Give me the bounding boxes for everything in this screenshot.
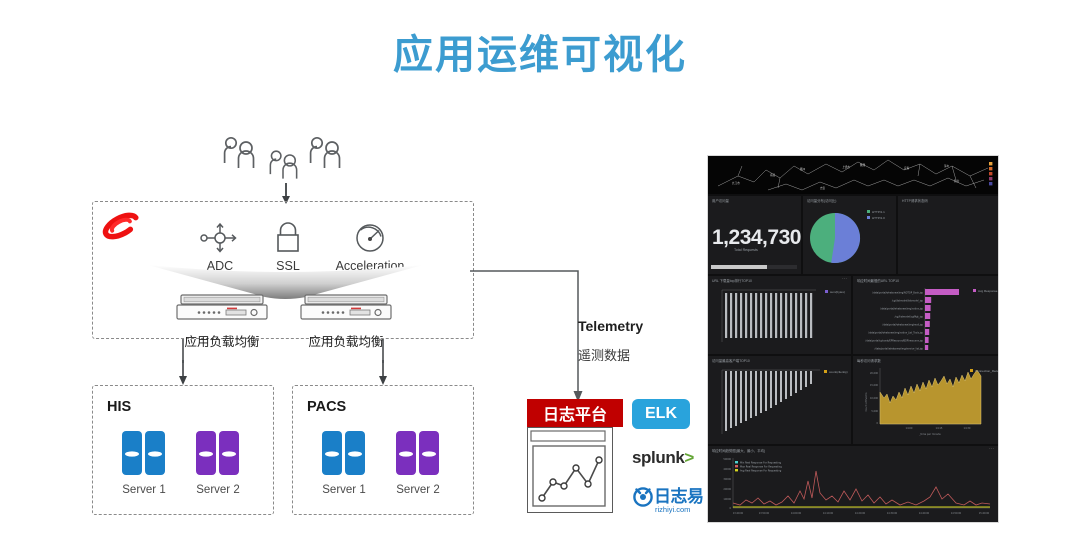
pacs-server-1: Server 1	[313, 431, 375, 496]
pie-legend-swatch-1	[867, 216, 870, 219]
svg-text:萍乡: 萍乡	[944, 164, 950, 168]
svg-text:上饶市: 上饶市	[842, 165, 850, 169]
rizhiyi-logo-label: 日志易	[654, 487, 704, 506]
svg-text:10000: 10000	[723, 498, 731, 501]
user-group-icon	[222, 136, 266, 170]
vcolumn-legend-swatch	[824, 370, 827, 373]
empty-panel[interactable]: HTTP请求状态码	[898, 196, 998, 274]
splunk-chevron-icon: >	[684, 448, 694, 467]
svg-text:/data/portal/whatsnew/img/serv: /data/portal/whatsnew/img/service_list.j…	[875, 348, 924, 351]
server-pair-icon	[318, 431, 370, 477]
radware-swirl-logo	[99, 208, 143, 244]
svg-text:13:50:00: 13:50:00	[759, 512, 770, 515]
pacs-server-2: Server 2	[387, 431, 449, 496]
svg-text:20000: 20000	[723, 488, 731, 491]
arrow-to-his-icon	[175, 360, 191, 386]
splunk-logo-label: splunk	[632, 448, 684, 467]
panel-menu-icon[interactable]: ···	[842, 276, 847, 282]
svg-text:15,000: 15,000	[870, 384, 879, 387]
his-server-2: Server 2	[187, 431, 249, 496]
geo-map-panel[interactable]: 九江市南昌 赣州吉安 上饶市鹰潭 宜春萍乡 新余	[708, 156, 998, 194]
hbar-panel[interactable]: 响应时间最慢的URL TOP10 /data/portal/whatsnew/i…	[853, 276, 998, 354]
panel-title: 响应时间最慢的URL TOP10	[857, 278, 899, 283]
server-label: Server 2	[187, 484, 249, 496]
connector-telemetry	[468, 269, 608, 409]
connector-edge-to-backends	[92, 339, 474, 387]
his-group-title: HIS	[107, 399, 131, 415]
pie-panel[interactable]: 访问量分布(访问比) HTTP/1.1 HTTP/1.0	[803, 196, 896, 274]
area-legend-label: Connection_Received	[975, 369, 999, 373]
total-requests-panel[interactable]: 用户访问量 1,234,730 Total Requests	[708, 196, 801, 274]
svg-text:20,000: 20,000	[870, 372, 879, 375]
server-pair-icon	[192, 431, 244, 477]
vcolumn-panel[interactable]: 访问量最高客户端TOP10 count(clientip)	[708, 356, 851, 444]
svg-text:/data/portal/whatsnew/img/noti: /data/portal/whatsnew/img/notice_List_To…	[868, 332, 923, 335]
panel-menu-icon[interactable]: ···	[989, 446, 994, 452]
ssl-lock-icon	[243, 222, 333, 256]
area-chart: 20,00015,000 10,0005,000 0 14:0014:1514:…	[853, 362, 998, 442]
svg-text:新余: 新余	[954, 179, 960, 183]
column-legend-swatch	[825, 290, 828, 293]
svg-text:吉安: 吉安	[820, 186, 826, 190]
pie-legend-label-1: HTTP/1.0	[872, 216, 885, 220]
elk-badge[interactable]: ELK	[632, 399, 690, 429]
svg-text:_time per minute: _time per minute	[918, 432, 941, 436]
column-legend-label: sum(bytes)	[830, 290, 845, 294]
telemetry-label-cn: 遥测数据	[578, 345, 630, 364]
svg-text:南昌: 南昌	[770, 173, 776, 177]
his-server-1: Server 1	[113, 431, 175, 496]
area-panel[interactable]: 每秒访问请求数 20,00015,000 10,0005,000 0 14:00…	[853, 356, 998, 444]
svg-text:Min Real Response For Requesti: Min Real Response For Requesting	[740, 461, 782, 464]
svg-text:30000: 30000	[723, 478, 731, 481]
server-label: Server 2	[387, 484, 449, 496]
rizhiyi-mark-icon	[632, 485, 654, 507]
svg-text:14:00: 14:00	[906, 427, 913, 430]
total-requests-sub: Total Requests	[734, 248, 758, 252]
svg-text:Avg Real Response For Requesti: Avg Real Response For Requesting	[740, 469, 782, 472]
svg-text:5,000: 5,000	[871, 410, 878, 413]
panel-scrollbar-thumb[interactable]	[711, 265, 767, 269]
panel-title: URL 下载量top排行TOP10	[712, 278, 752, 283]
user-group-icon	[268, 148, 308, 182]
svg-text:0: 0	[729, 507, 731, 510]
svg-text:/data/portal/whatsnew/img/noti: /data/portal/whatsnew/img/notice.jsp	[880, 308, 923, 311]
speedometer-icon	[325, 222, 415, 256]
hbar-legend-swatch	[973, 289, 976, 292]
log-analytics-dashboard[interactable]: 九江市南昌 赣州吉安 上饶市鹰潭 宜春萍乡 新余 用户访问量 1,234,730	[707, 155, 999, 523]
svg-text:/data/portal/whatsnew/img/NOTO: /data/portal/whatsnew/img/NOTOP_Book.jsp	[872, 292, 923, 295]
svg-text:15:40:00: 15:40:00	[979, 512, 990, 515]
svg-text:14:10:00: 14:10:00	[823, 512, 834, 515]
panel-title: 访问量最高客户端TOP10	[712, 358, 750, 363]
telemetry-label-en: Telemetry	[578, 318, 643, 334]
svg-text:14:15: 14:15	[936, 427, 943, 430]
pie-chart	[803, 203, 896, 273]
svg-text:14:00:00: 14:00:00	[791, 512, 802, 515]
svg-text:40000: 40000	[723, 468, 731, 471]
panel-title: HTTP请求状态码	[902, 198, 928, 203]
panel-title: 用户访问量	[712, 198, 729, 203]
arrow-to-pacs-icon	[375, 360, 391, 386]
svg-text:0: 0	[877, 422, 879, 425]
svg-text:13:40:00: 13:40:00	[733, 512, 744, 515]
svg-text:10,000: 10,000	[870, 397, 879, 400]
pie-legend-label-0: HTTP/1.1	[872, 210, 885, 214]
svg-text:赣州: 赣州	[800, 167, 806, 171]
horizontal-bar-chart: /data/portal/whatsnew/img/NOTOP_Book.jsp…	[853, 284, 998, 352]
line-chart-icon	[528, 428, 612, 512]
svg-text:14:20:00: 14:20:00	[855, 512, 866, 515]
rizhiyi-logo: 日志易 rizhiyi.com	[632, 482, 704, 514]
svg-text:Count of Events: Count of Events	[865, 392, 868, 412]
svg-text:九江市: 九江市	[732, 181, 740, 185]
line-panel[interactable]: 响应时间趋势图(最大、最小、平均) ··· 5000040000 3000020…	[708, 446, 998, 522]
svg-text:宜春: 宜春	[904, 166, 910, 170]
server-label: Server 1	[313, 484, 375, 496]
column-panel[interactable]: URL 下载量top排行TOP10 ···	[708, 276, 851, 354]
page-title: 应用运维可视化	[0, 22, 1080, 80]
svg-text:/cgi/listmodel/cgiMgt_jsp: /cgi/listmodel/cgiMgt_jsp	[895, 316, 924, 319]
line-chart: 5000040000 3000020000 100000 Min Real Re…	[708, 453, 998, 521]
log-platform-chart-card	[527, 427, 613, 513]
user-group-icon	[308, 136, 352, 170]
svg-text:50000: 50000	[723, 458, 731, 461]
hbar-legend-label: Avg Response Time	[978, 289, 999, 293]
svg-text:14:30:00: 14:30:00	[887, 512, 898, 515]
server-pair-icon	[392, 431, 444, 477]
pie-legend-swatch-0	[867, 210, 870, 213]
area-legend-swatch	[970, 369, 973, 372]
column-chart	[708, 284, 851, 352]
server-pair-icon	[118, 431, 170, 477]
splunk-logo: splunk>	[632, 448, 694, 468]
server-label: Server 1	[113, 484, 175, 496]
svg-text:/data/portal/uploads/EPResourc: /data/portal/uploads/EPResource/BDP/reso…	[865, 340, 923, 343]
total-requests-value: 1,234,730	[712, 226, 801, 250]
rizhiyi-logo-sub: rizhiyi.com	[655, 505, 704, 514]
rack-appliance-icon	[176, 294, 268, 324]
svg-text:Max Real Response For Requesti: Max Real Response For Requesting	[740, 465, 782, 468]
slide-canvas: 应用运维可视化	[0, 0, 1080, 541]
svg-text:14:50:00: 14:50:00	[951, 512, 962, 515]
geo-map-icon: 九江市南昌 赣州吉安 上饶市鹰潭 宜春萍乡 新余	[708, 156, 998, 194]
svg-text:/data/portal/whatsnew/img/mail: /data/portal/whatsnew/img/mail.jsp	[882, 324, 923, 327]
vertical-column-chart	[708, 364, 851, 442]
panel-scrollbar[interactable]	[711, 265, 797, 269]
vcolumn-legend-label: count(clientip)	[829, 370, 848, 374]
log-platform-banner[interactable]: 日志平台	[527, 399, 623, 427]
svg-text:14:40:00: 14:40:00	[919, 512, 930, 515]
svg-text:鹰潭: 鹰潭	[860, 163, 866, 167]
pacs-group-title: PACS	[307, 399, 346, 415]
svg-text:14:30: 14:30	[964, 427, 971, 430]
rack-appliance-icon	[300, 294, 392, 324]
svg-text:/cgi/listmodel/listmodel_jsp: /cgi/listmodel/listmodel_jsp	[892, 300, 924, 303]
